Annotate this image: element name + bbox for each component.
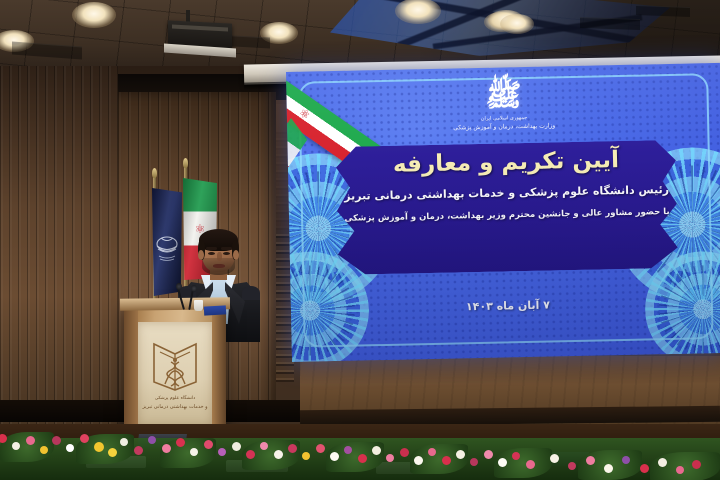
flower <box>568 462 576 470</box>
flower <box>692 460 701 469</box>
flower <box>274 450 283 459</box>
tabriz-university-logo-icon <box>150 336 200 392</box>
flower <box>148 436 156 444</box>
flower <box>80 434 89 443</box>
flower <box>344 446 352 454</box>
flower <box>26 436 35 445</box>
ear-right <box>233 250 239 260</box>
flower <box>676 466 684 474</box>
flower <box>108 448 117 457</box>
flower <box>94 442 104 452</box>
flower <box>456 450 465 459</box>
stage-floral-arrangements <box>0 418 720 480</box>
flower <box>330 452 339 461</box>
flower <box>622 456 630 464</box>
shoulder-right <box>242 286 260 300</box>
flower <box>414 456 423 465</box>
flower <box>232 442 241 451</box>
flower <box>586 456 595 465</box>
flower <box>400 448 409 457</box>
eyebrow-left <box>206 247 217 250</box>
flower <box>190 448 198 456</box>
led-screen-banner: ⚛ ﷺ جمهوری اسلامی ایران وزارت بهداشت، در… <box>286 63 720 362</box>
podium-logo-caption-2: و خدمات بهداشتی درمانی تبریز <box>142 404 208 410</box>
flower <box>260 442 268 450</box>
flower <box>428 448 436 456</box>
flower <box>246 450 255 459</box>
flower <box>176 438 185 447</box>
downlight-icon <box>72 2 116 28</box>
ceiling-vent <box>636 5 690 17</box>
flower <box>162 444 171 453</box>
water-cup <box>194 300 203 311</box>
flower <box>498 458 507 467</box>
flower <box>526 460 535 469</box>
mouth <box>213 264 225 268</box>
eye-right <box>223 252 230 255</box>
microphone-head-icon <box>176 283 182 290</box>
nose <box>217 252 222 261</box>
flower <box>470 458 478 466</box>
flower <box>484 450 493 459</box>
podium-logo-caption-1: دانشگاه علوم پزشکی <box>146 396 204 401</box>
eye-left <box>208 252 215 255</box>
flower <box>302 452 310 460</box>
flower <box>316 444 325 453</box>
flower <box>288 444 297 453</box>
flag-finial-icon <box>183 158 188 168</box>
downlight-icon <box>500 14 534 34</box>
flower <box>512 452 520 460</box>
ceiling-vent <box>580 17 640 30</box>
flower <box>134 446 143 455</box>
flower <box>442 456 451 465</box>
screen-vignette <box>286 63 720 362</box>
flower <box>358 454 367 463</box>
flower <box>640 464 649 473</box>
flower <box>604 464 613 473</box>
flower <box>12 442 20 450</box>
flower <box>52 436 61 445</box>
flower <box>204 440 213 449</box>
flower <box>66 444 74 452</box>
photo-scene: ⚛ ﷺ جمهوری اسلامی ایران وزارت بهداشت، در… <box>0 0 720 480</box>
flower <box>40 446 48 454</box>
flower <box>372 446 381 455</box>
speech-papers <box>204 305 226 315</box>
flag-finial-icon <box>152 168 157 178</box>
eyebrow-right <box>221 247 232 250</box>
ear-left <box>198 250 204 260</box>
flower <box>218 448 226 456</box>
wood-wall-panel-left <box>0 66 118 438</box>
flower <box>386 454 394 462</box>
flower <box>120 438 128 446</box>
flower <box>550 454 559 463</box>
flower <box>658 458 667 467</box>
microphone-head-icon <box>191 285 197 292</box>
